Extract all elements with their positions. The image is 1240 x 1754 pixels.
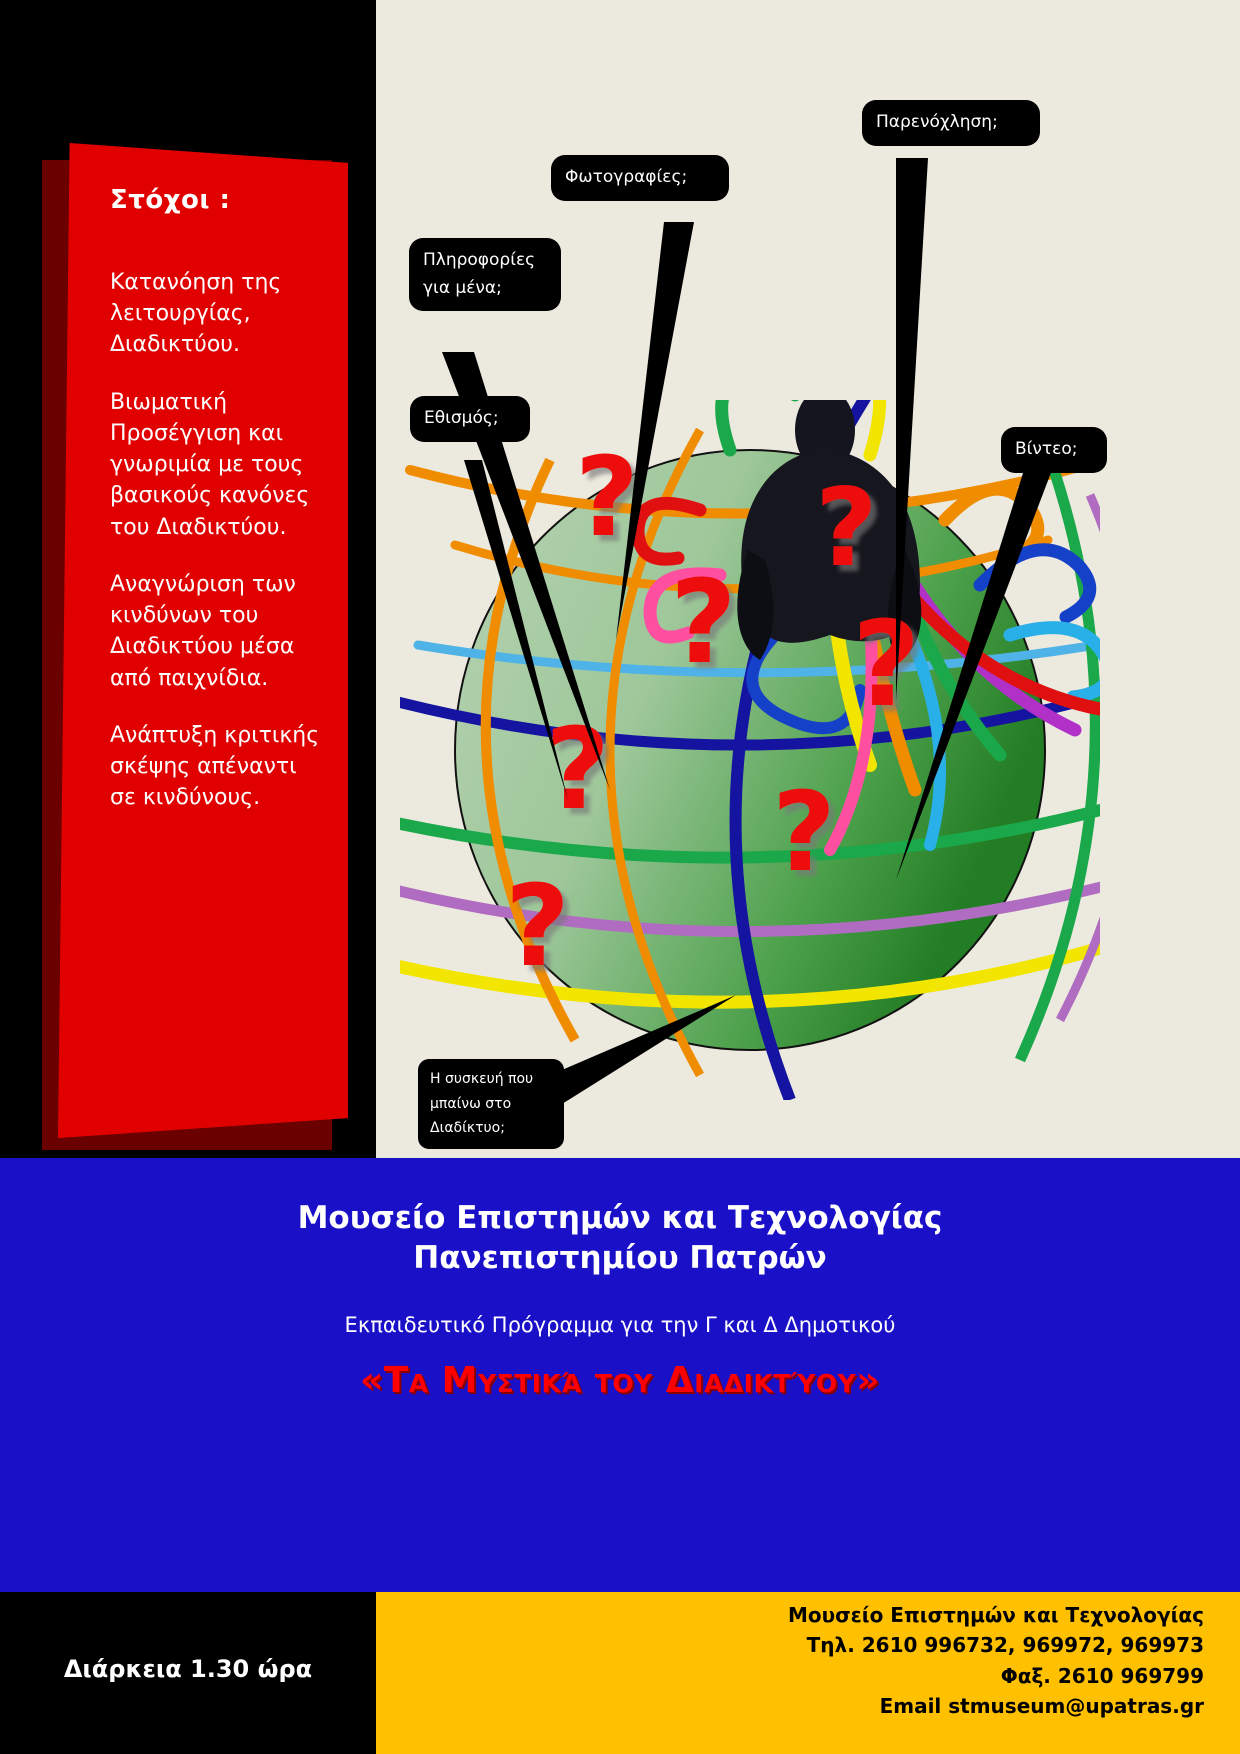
question-mark-5: ? bbox=[815, 466, 878, 591]
question-mark-6: ? bbox=[852, 595, 920, 733]
contact-line-phone: Τηλ. 2610 996732, 969972, 969973 bbox=[376, 1630, 1204, 1660]
goal-item-1: Κατανόηση της λειτουργίας, Διαδικτύου. bbox=[110, 267, 325, 361]
footer-subtitle: Εκπαιδευτικό Πρόγραμμα για την Γ και Δ Δ… bbox=[0, 1313, 1240, 1337]
contact-line-email: Email stmuseum@upatras.gr bbox=[376, 1691, 1204, 1721]
goal-item-4: Ανάπτυξη κριτικής σκέψης απέναντι σε κιν… bbox=[110, 720, 325, 814]
program-headline: «Τα Μυστικά του Διαδικτύου» bbox=[0, 1360, 1240, 1401]
globe-svg: ? ? ? ? ? ? ? bbox=[400, 400, 1100, 1100]
bubble-harassment[interactable]: Παρενόχληση; bbox=[862, 100, 1040, 146]
question-mark-3: ? bbox=[545, 705, 610, 835]
bubble-video[interactable]: Βίντεο; bbox=[1001, 427, 1107, 473]
poster-root: Στόχοι : Κατανόηση της λειτουργίας, Διαδ… bbox=[0, 0, 1240, 1754]
bubble-device[interactable]: Η συσκευή που μπαίνω στο Διαδίκτυο; bbox=[418, 1059, 564, 1149]
footer-title: Μουσείο Επιστημών και Τεχνολογίας Πανεπι… bbox=[0, 1198, 1240, 1279]
bubble-photos[interactable]: Φωτογραφίες; bbox=[551, 155, 729, 201]
footer-title-line1: Μουσείο Επιστημών και Τεχνολογίας bbox=[0, 1198, 1240, 1238]
goal-item-2: Βιωματική Προσέγγιση και γνωριμία με του… bbox=[110, 387, 325, 543]
contact-line-fax: Φαξ. 2610 969799 bbox=[376, 1661, 1204, 1691]
question-mark-2: ? bbox=[670, 556, 737, 690]
contact-line-organisation: Μουσείο Επιστημών και Τεχνολογίας bbox=[376, 1600, 1204, 1630]
goal-item-3: Αναγνώριση των κινδύνων του Διαδικτύου μ… bbox=[110, 569, 325, 694]
bubble-addiction[interactable]: Εθισμός; bbox=[410, 396, 530, 442]
question-mark-7: ? bbox=[772, 768, 836, 896]
bubble-info-about-me[interactable]: Πληροφορίες για μένα; bbox=[409, 238, 561, 311]
footer-title-line2: Πανεπιστημίου Πατρών bbox=[0, 1238, 1240, 1278]
question-mark-1: ? bbox=[575, 433, 639, 561]
goals-content: Στόχοι : Κατανόηση της λειτουργίας, Διαδ… bbox=[110, 185, 325, 840]
globe-illustration: ? ? ? ? ? ? ? bbox=[400, 400, 1100, 1100]
duration-label: Διάρκεια 1.30 ώρα bbox=[0, 1655, 376, 1683]
contact-block: Μουσείο Επιστημών και Τεχνολογίας Τηλ. 2… bbox=[376, 1600, 1204, 1722]
goals-title: Στόχοι : bbox=[110, 185, 325, 215]
question-mark-4: ? bbox=[505, 862, 570, 992]
